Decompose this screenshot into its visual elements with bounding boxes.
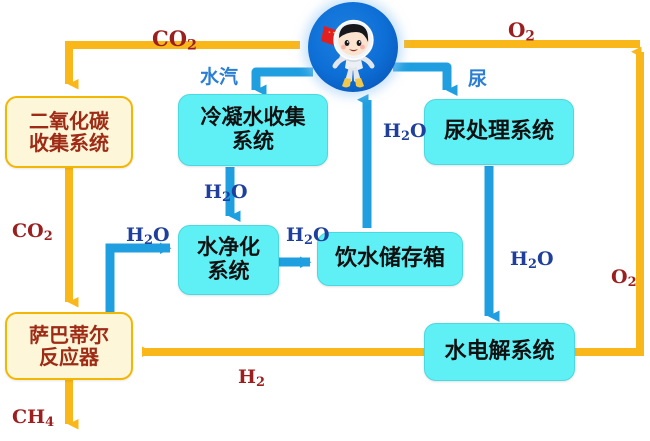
node-sabatier-reactor-line1: 萨巴蒂尔 — [29, 324, 109, 346]
flow-o2-riser — [586, 52, 640, 352]
node-condensate-collection[interactable]: 冷凝水收集 系统 — [178, 94, 328, 166]
node-drinking-water-tank[interactable]: 饮水储存箱 — [317, 232, 463, 286]
node-drinking-water-tank-label: 饮水储存箱 — [335, 247, 445, 272]
node-water-purification-line1: 水净化 — [197, 236, 260, 260]
label-urine: 尿 — [468, 64, 487, 91]
astronaut-avatar — [300, 2, 406, 98]
label-co2-left: CO2 — [12, 220, 53, 244]
node-urine-processing-label: 尿处理系统 — [444, 120, 554, 145]
label-h2-bottom: H2 — [238, 366, 265, 390]
label-co2-top: CO2 — [152, 26, 197, 54]
node-water-purification[interactable]: 水净化 系统 — [178, 225, 279, 295]
label-h2o-sabatier: H2O — [126, 224, 170, 248]
label-h2o-urine: H2O — [383, 120, 427, 144]
node-water-electrolysis[interactable]: 水电解系统 — [424, 323, 575, 381]
node-condensate-collection-line1: 冷凝水收集 — [201, 106, 306, 130]
label-o2-top: O2 — [508, 18, 535, 44]
node-condensate-collection-line2: 系统 — [201, 130, 306, 154]
label-h2o-condensate: H2O — [204, 181, 248, 205]
label-h2o-electrolysis: H2O — [510, 248, 554, 272]
label-ch4-bottom: CH4 — [12, 406, 54, 430]
node-sabatier-reactor-line2: 反应器 — [29, 346, 109, 368]
label-water-vapor: 水汽 — [200, 62, 238, 89]
label-o2-right: O2 — [611, 266, 637, 290]
node-co2-collection[interactable]: 二氧化碳 收集系统 — [5, 96, 133, 168]
node-co2-collection-line2: 收集系统 — [29, 132, 109, 154]
node-water-purification-line2: 系统 — [197, 260, 260, 284]
node-co2-collection-line1: 二氧化碳 — [29, 110, 109, 132]
label-h2o-purified: H2O — [286, 224, 330, 248]
node-sabatier-reactor[interactable]: 萨巴蒂尔 反应器 — [5, 312, 133, 380]
diagram-canvas: 二氧化碳 收集系统 萨巴蒂尔 反应器 冷凝水收集 系统 水净化 系统 饮水储存箱… — [0, 0, 650, 441]
node-water-electrolysis-label: 水电解系统 — [444, 340, 554, 365]
astronaut-figure-icon — [300, 2, 406, 98]
node-urine-processing[interactable]: 尿处理系统 — [424, 99, 574, 165]
